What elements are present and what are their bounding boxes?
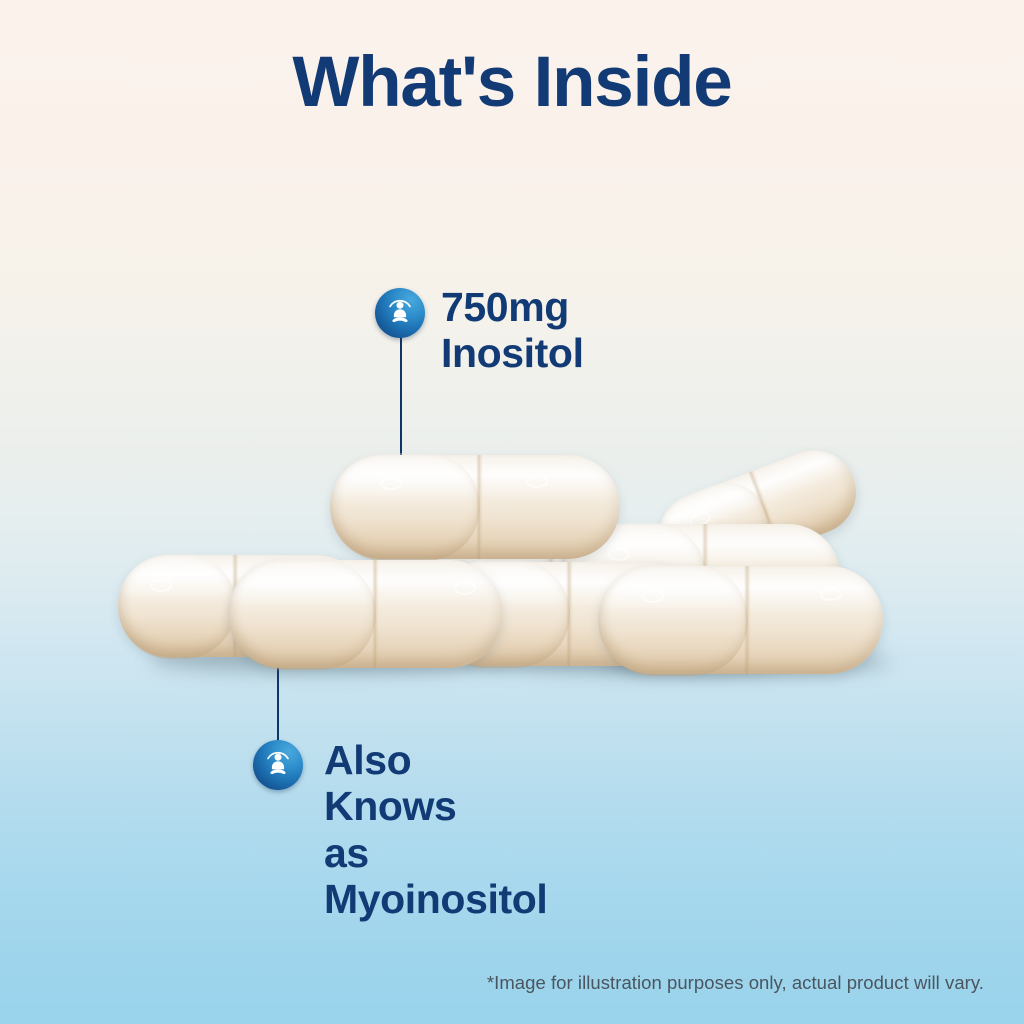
capsule-dome-ring bbox=[454, 582, 476, 595]
callout-alt-name-label: Also Knows as Myoinositol bbox=[324, 737, 547, 922]
capsule-dome-ring bbox=[150, 579, 172, 592]
capsule bbox=[330, 455, 620, 559]
capsule bbox=[228, 560, 503, 668]
capsule-shell bbox=[330, 453, 480, 561]
capsule-seam bbox=[744, 566, 751, 674]
page-title: What's Inside bbox=[0, 46, 1024, 121]
capsule-dome-ring bbox=[526, 475, 548, 488]
disclaimer-footnote: *Image for illustration purposes only, a… bbox=[487, 972, 984, 994]
capsule-dome-ring bbox=[380, 477, 402, 490]
capsule-dome-ring bbox=[608, 548, 630, 561]
capsule-shell bbox=[118, 553, 236, 659]
capsule-seam bbox=[372, 560, 379, 668]
meditation-lotus-icon[interactable] bbox=[375, 288, 425, 338]
capsule-shell bbox=[598, 564, 748, 676]
infographic-canvas: What's Inside bbox=[0, 0, 1024, 1024]
callout-inositol-dose-label: 750mg Inositol bbox=[441, 284, 584, 377]
product-photo bbox=[0, 400, 1024, 720]
capsule-seam bbox=[566, 562, 573, 666]
capsule-seam bbox=[476, 455, 483, 559]
capsule-dome-ring bbox=[642, 590, 664, 603]
meditation-lotus-icon[interactable] bbox=[253, 740, 303, 790]
capsule-shell bbox=[228, 558, 376, 670]
capsule bbox=[598, 566, 883, 674]
capsule-dome-ring bbox=[820, 588, 842, 601]
